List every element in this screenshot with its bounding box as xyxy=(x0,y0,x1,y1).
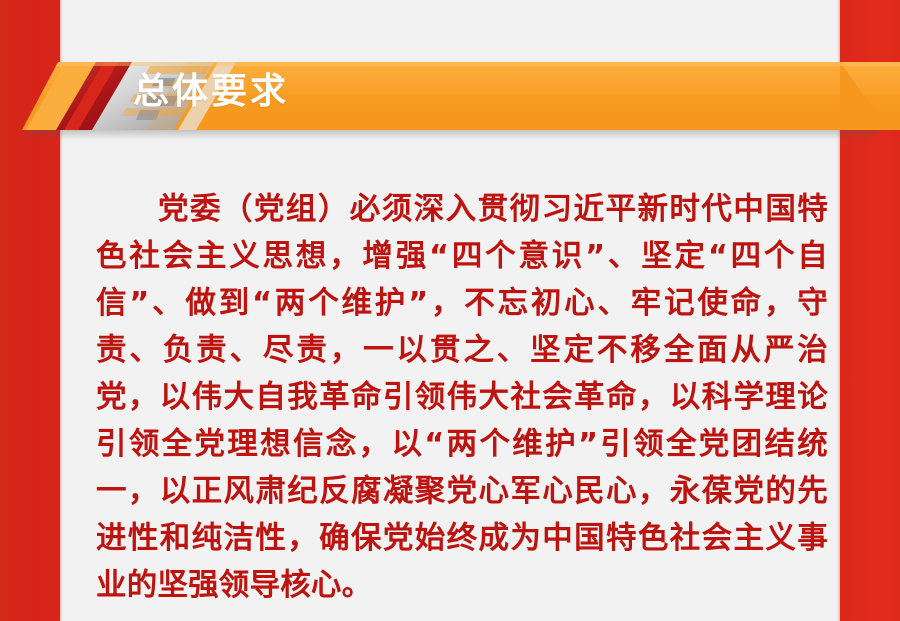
body-paragraph: 党委（党组）必须深入贯彻习近平新时代中国特色社会主义思想，增强“四个意识”、坚定… xyxy=(96,186,828,609)
slide-root: 总体要求 党委（党组）必须深入贯彻习近平新时代中国特色社会主义思想，增强“四个意… xyxy=(0,0,900,621)
page-title: 总体要求 xyxy=(133,64,289,120)
